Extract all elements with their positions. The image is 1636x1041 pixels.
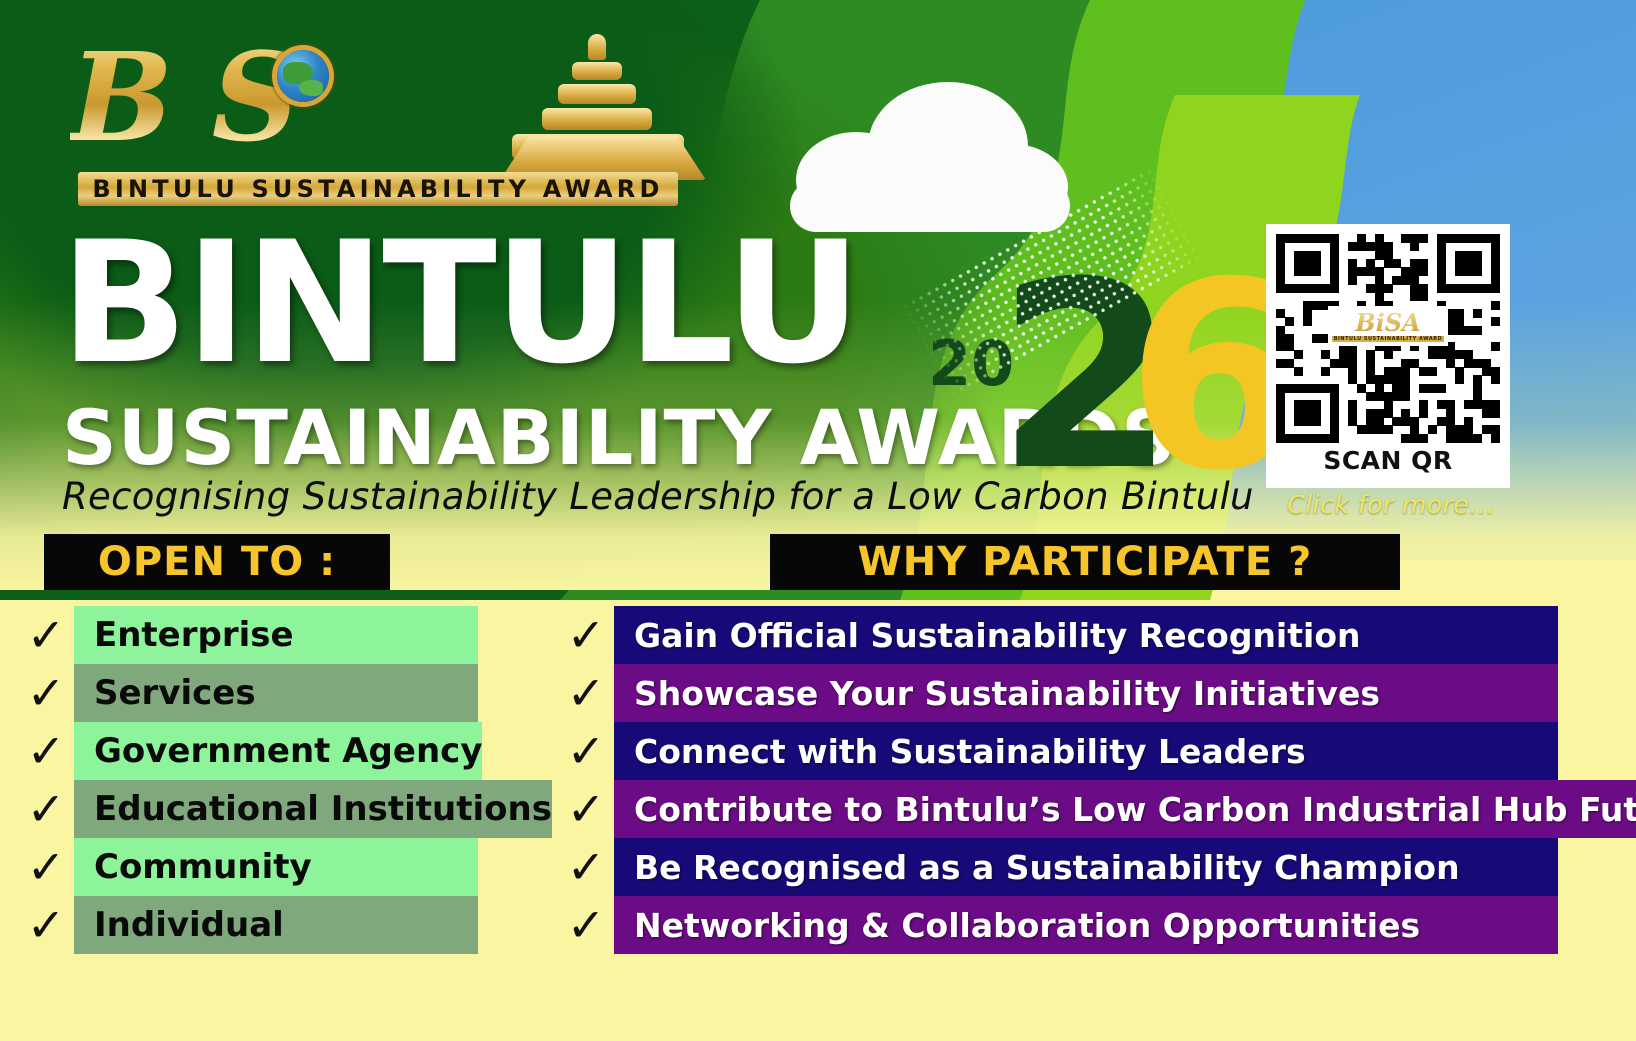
poster: B S BINTULU SUSTAINABILITY AWARD BINTULU… <box>0 0 1636 1041</box>
check-icon: ✓ <box>18 728 74 774</box>
list-item: ✓Services <box>18 664 478 722</box>
why-participate-title: WHY PARTICIPATE ? <box>858 539 1313 585</box>
list-item: ✓Community <box>18 838 478 896</box>
why-participate-header: WHY PARTICIPATE ? <box>770 534 1400 590</box>
list-item: ✓Contribute to Bintulu’s Low Carbon Indu… <box>558 780 1558 838</box>
list-item: ✓Enterprise <box>18 606 478 664</box>
check-icon: ✓ <box>558 728 614 774</box>
why-participate-list: ✓Gain Official Sustainability Recognitio… <box>558 606 1558 954</box>
list-item: ✓Be Recognised as a Sustainability Champ… <box>558 838 1558 896</box>
globe-icon <box>277 50 329 102</box>
qr-code-image[interactable]: BiSA BINTULU SUSTAINABILITY AWARD <box>1276 234 1500 442</box>
check-icon: ✓ <box>558 902 614 948</box>
open-to-list: ✓Enterprise✓Services✓Government Agency✓E… <box>18 606 478 954</box>
check-icon: ✓ <box>18 670 74 716</box>
why-participate-label: Showcase Your Sustainability Initiatives <box>614 674 1380 713</box>
why-participate-row-bar: Be Recognised as a Sustainability Champi… <box>614 838 1558 896</box>
why-participate-row-bar: Connect with Sustainability Leaders <box>614 722 1558 780</box>
why-participate-row-bar: Contribute to Bintulu’s Low Carbon Indus… <box>614 780 1636 838</box>
qr-label: SCAN QR <box>1276 446 1500 475</box>
why-participate-row-bar: Showcase Your Sustainability Initiatives <box>614 664 1558 722</box>
open-to-row-bar: Educational Institutions <box>74 780 552 838</box>
check-icon: ✓ <box>18 786 74 832</box>
open-to-label: Government Agency <box>74 731 482 771</box>
why-participate-label: Gain Official Sustainability Recognition <box>614 616 1361 655</box>
page-title: BINTULU <box>60 228 859 378</box>
qr-embedded-logo: BiSA BINTULU SUSTAINABILITY AWARD <box>1328 306 1448 346</box>
qr-code-card[interactable]: BiSA BINTULU SUSTAINABILITY AWARD SCAN Q… <box>1266 224 1510 488</box>
why-participate-row-bar: Networking & Collaboration Opportunities <box>614 896 1558 954</box>
open-to-row-bar: Services <box>74 664 478 722</box>
check-icon: ✓ <box>18 844 74 890</box>
open-to-header: OPEN TO : <box>44 534 390 590</box>
why-participate-label: Contribute to Bintulu’s Low Carbon Indus… <box>614 790 1636 829</box>
logo-band-text: BINTULU SUSTAINABILITY AWARD <box>92 175 663 203</box>
why-participate-label: Be Recognised as a Sustainability Champi… <box>614 848 1460 887</box>
qr-logo-mark: BiSA <box>1355 311 1420 335</box>
list-item: ✓Educational Institutions <box>18 780 478 838</box>
open-to-row-bar: Government Agency <box>74 722 482 780</box>
open-to-row-bar: Enterprise <box>74 606 478 664</box>
tower-icon <box>500 32 720 182</box>
why-participate-label: Connect with Sustainability Leaders <box>614 732 1306 771</box>
open-to-row-bar: Community <box>74 838 478 896</box>
logo-band: BINTULU SUSTAINABILITY AWARD <box>78 172 678 206</box>
open-to-row-bar: Individual <box>74 896 478 954</box>
list-item: ✓Gain Official Sustainability Recognitio… <box>558 606 1558 664</box>
open-to-label: Individual <box>74 905 284 945</box>
list-item: ✓Individual <box>18 896 478 954</box>
check-icon: ✓ <box>18 902 74 948</box>
open-to-label: Educational Institutions <box>74 789 552 829</box>
check-icon: ✓ <box>558 786 614 832</box>
open-to-label: Community <box>74 847 312 887</box>
open-to-label: Enterprise <box>74 615 294 655</box>
check-icon: ✓ <box>18 612 74 658</box>
check-icon: ✓ <box>558 612 614 658</box>
why-participate-label: Networking & Collaboration Opportunities <box>614 906 1420 945</box>
check-icon: ✓ <box>558 844 614 890</box>
bisa-logo: B S BINTULU SUSTAINABILITY AWARD <box>70 22 670 212</box>
why-participate-row-bar: Gain Official Sustainability Recognition <box>614 606 1558 664</box>
check-icon: ✓ <box>558 670 614 716</box>
qr-click-hint[interactable]: Click for more... <box>1266 490 1516 519</box>
list-item: ✓Government Agency <box>18 722 478 780</box>
qr-logo-band: BINTULU SUSTAINABILITY AWARD <box>1332 336 1444 342</box>
year-graphic: 2 6 20 <box>918 238 1218 488</box>
open-to-title: OPEN TO : <box>98 539 336 585</box>
list-item: ✓Networking & Collaboration Opportunitie… <box>558 896 1558 954</box>
list-item: ✓Showcase Your Sustainability Initiative… <box>558 664 1558 722</box>
list-item: ✓Connect with Sustainability Leaders <box>558 722 1558 780</box>
open-to-label: Services <box>74 673 256 713</box>
